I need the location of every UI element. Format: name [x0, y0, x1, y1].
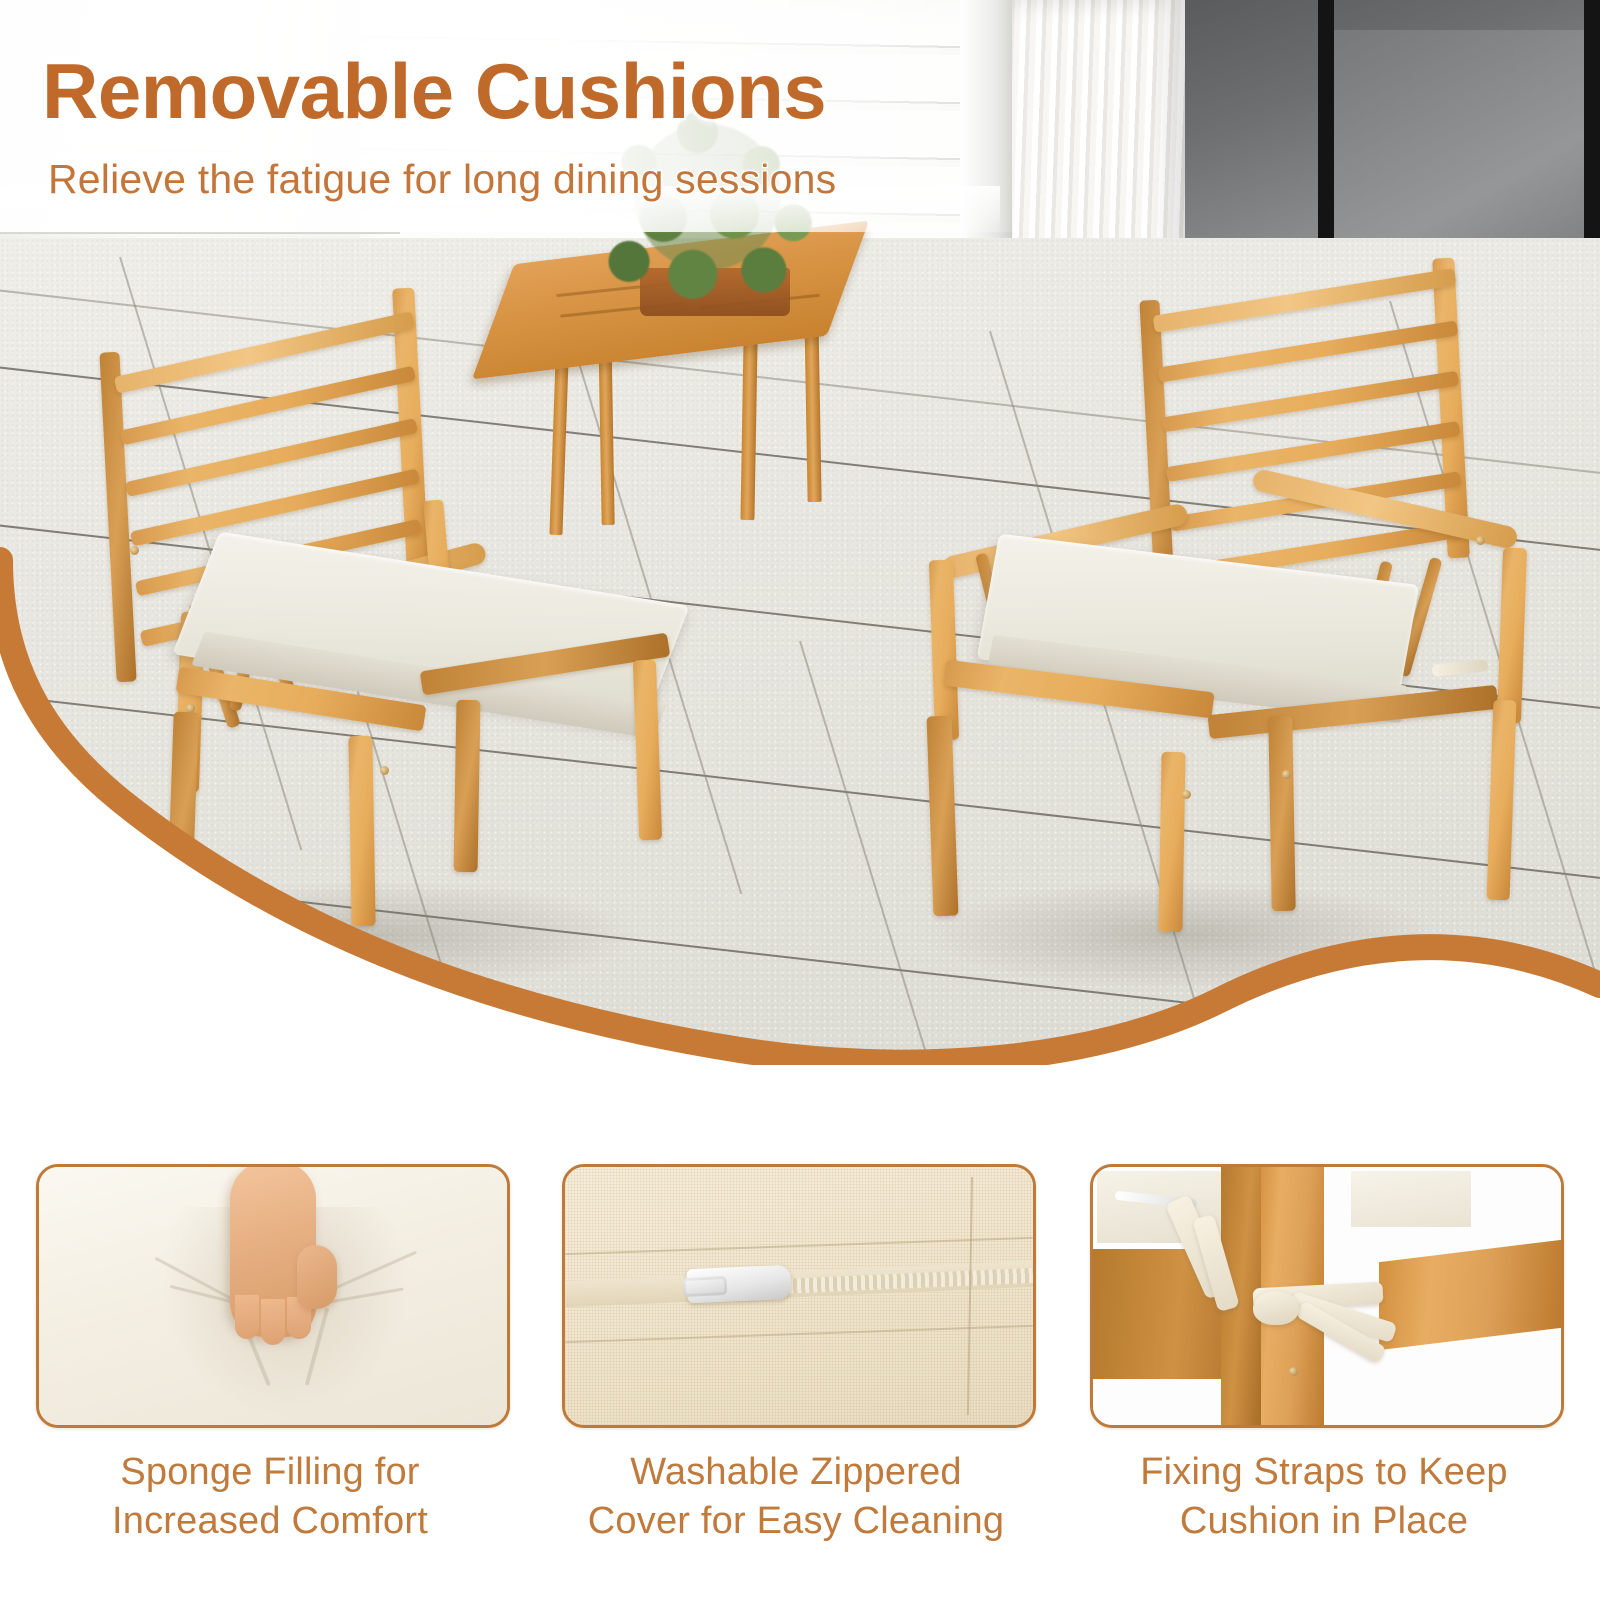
hand-thumb — [297, 1245, 337, 1309]
caption-line-1: Sponge Filling for — [20, 1448, 520, 1497]
chair-screw — [186, 704, 195, 713]
chair-shadow — [120, 880, 640, 990]
caption-line-1: Washable Zippered — [546, 1448, 1046, 1497]
caption-line-1: Fixing Straps to Keep — [1074, 1448, 1574, 1497]
hand-knuckle — [235, 1295, 259, 1339]
chair-leg — [454, 700, 481, 872]
feature-thumbnail-sponge-filling — [36, 1164, 510, 1428]
chair-screw — [380, 766, 389, 775]
chair-leg — [1268, 716, 1295, 911]
chair-screw — [1182, 790, 1191, 799]
cushion-edge — [1351, 1171, 1471, 1227]
feature-caption-fixing-straps: Fixing Straps to Keep Cushion in Place — [1074, 1448, 1574, 1547]
chair-leg — [348, 736, 375, 926]
zipper-pull-tab — [683, 1276, 728, 1297]
feature-thumbnail-fixing-straps — [1090, 1164, 1564, 1428]
chair-screw — [1282, 770, 1291, 779]
chair-screw — [1289, 1367, 1298, 1376]
strap-knot — [1253, 1291, 1299, 1325]
hand-knuckle — [261, 1299, 285, 1345]
page-subtitle: Relieve the fatigue for long dining sess… — [48, 156, 836, 203]
feature-thumbnail-washable-zipper — [562, 1164, 1036, 1428]
caption-line-2: Increased Comfort — [20, 1497, 520, 1546]
page-title: Removable Cushions — [42, 46, 826, 137]
chair-leg — [1158, 752, 1185, 932]
chair-screw — [130, 546, 139, 555]
feature-caption-washable-zipper: Washable Zippered Cover for Easy Cleanin… — [546, 1448, 1046, 1547]
caption-line-2: Cushion in Place — [1074, 1497, 1574, 1546]
caption-line-2: Cover for Easy Cleaning — [546, 1497, 1046, 1546]
hero-banner: Removable Cushions Relieve the fatigue f… — [0, 0, 1600, 1065]
chair-screw — [1476, 536, 1485, 545]
feature-caption-sponge-filling: Sponge Filling for Increased Comfort — [20, 1448, 520, 1547]
